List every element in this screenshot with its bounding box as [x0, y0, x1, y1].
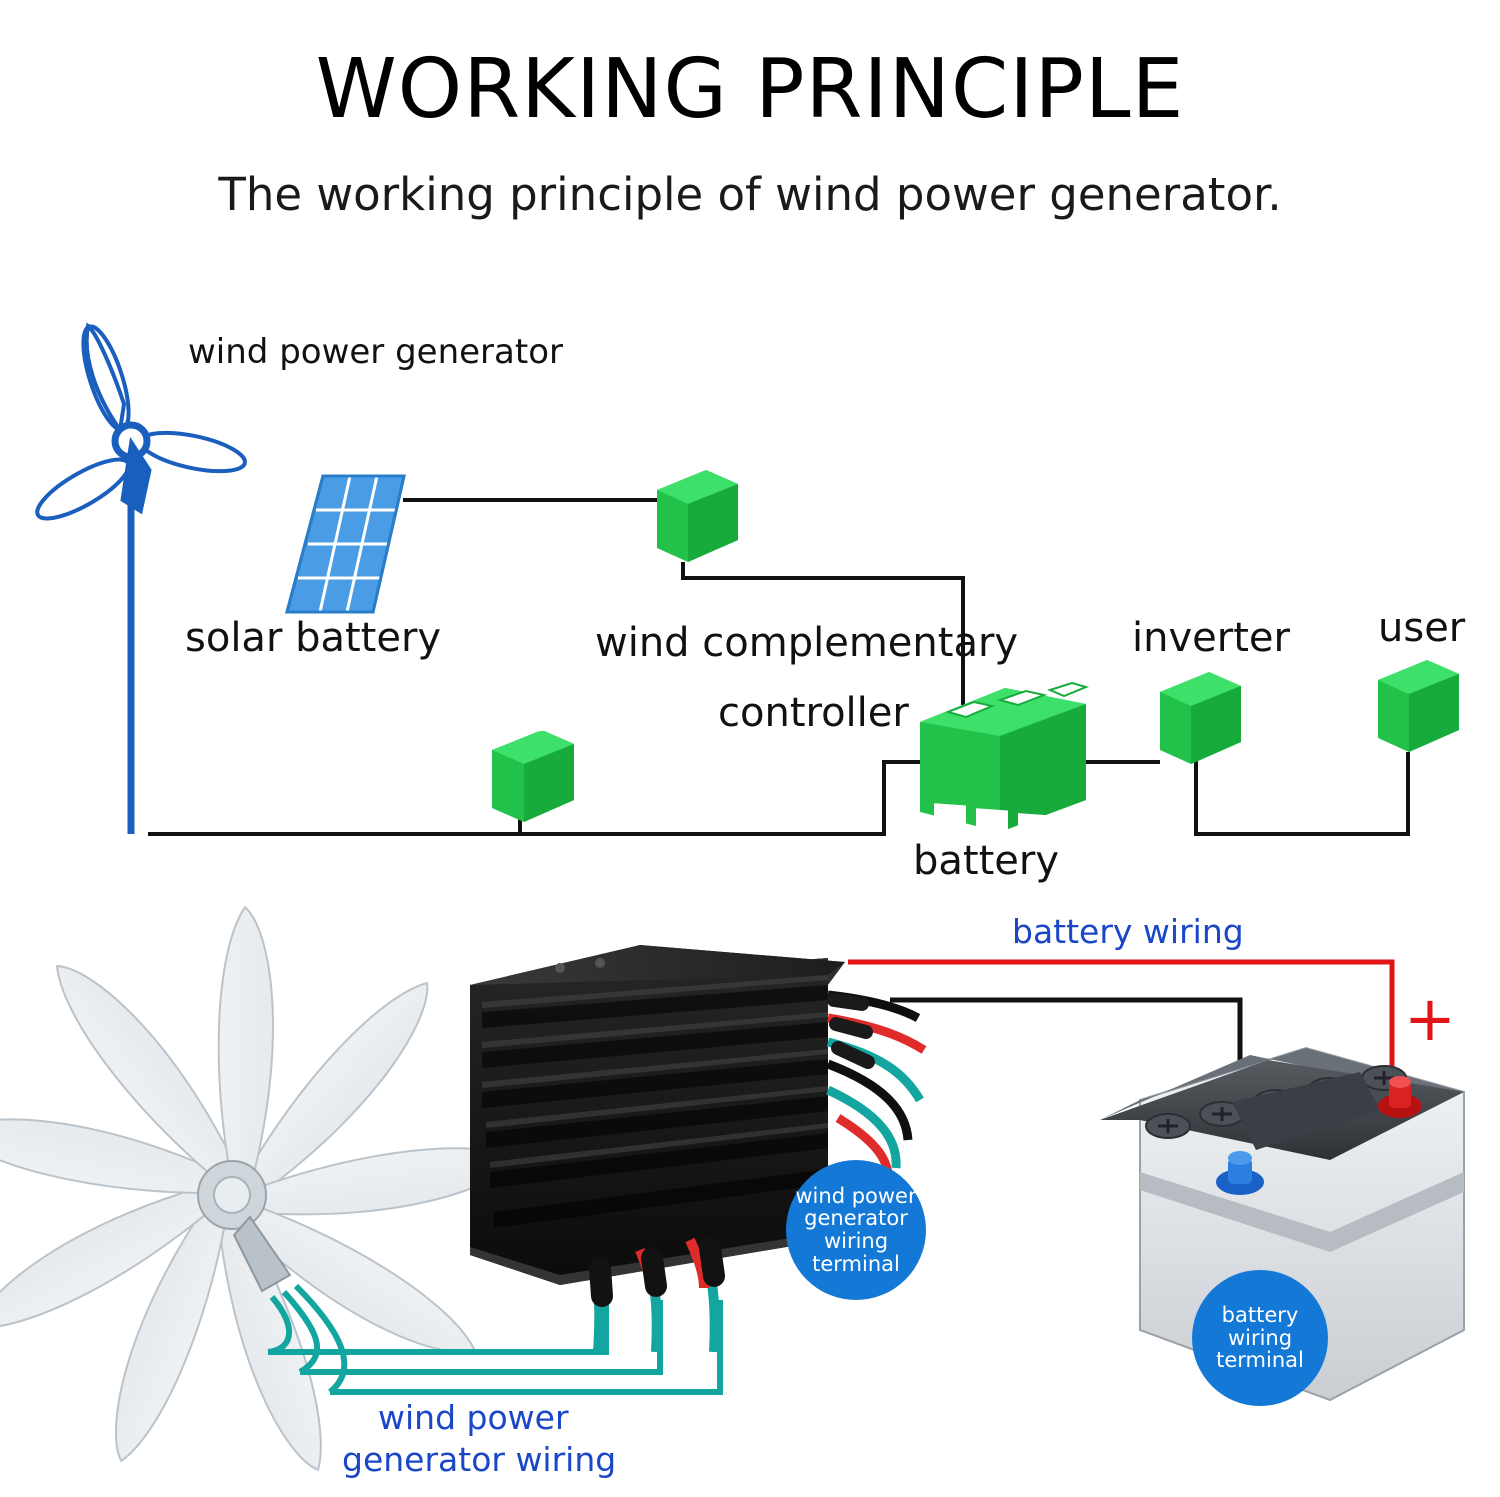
turbine-photo — [0, 907, 518, 1470]
positive-sign: + — [1404, 988, 1456, 1050]
callout-battery-terminal-text: battery wiring terminal — [1192, 1304, 1328, 1372]
annotation-battery-wiring: battery wiring — [1012, 912, 1244, 951]
annotation-wind-wiring-line1: wind power — [378, 1398, 569, 1437]
page-root: WORKING PRINCIPLE The working principle … — [0, 0, 1500, 1497]
callout-battery-terminal: battery wiring terminal — [1192, 1270, 1328, 1406]
callout-wind-terminal: wind power generator wiring terminal — [786, 1160, 926, 1300]
cable-sleeves — [834, 1000, 868, 1062]
annotation-wind-wiring-line2: generator wiring — [342, 1440, 616, 1479]
callout-wind-terminal-text: wind power generator wiring terminal — [786, 1185, 926, 1276]
